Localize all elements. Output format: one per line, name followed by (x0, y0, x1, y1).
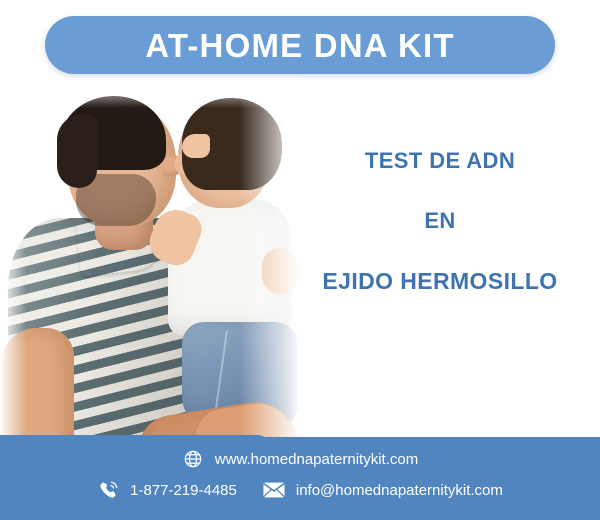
photo-canvas (0, 78, 300, 453)
phone-icon (97, 479, 119, 501)
hero-photo (0, 78, 300, 453)
footer-website-item[interactable]: www.homednapaternitykit.com (182, 448, 418, 470)
footer-row-phone-email: 1-877-219-4485 info@homednapaternitykit.… (0, 479, 600, 501)
header-banner: AT-HOME DNA KIT (0, 16, 600, 74)
globe-icon (182, 448, 204, 470)
envelope-icon (263, 479, 285, 501)
email-address: info@homednapaternitykit.com (296, 483, 503, 498)
headline-line-1: TEST DE ADN (290, 150, 590, 172)
child-cheek (182, 134, 210, 158)
footer-contact-bar: www.homednapaternitykit.com 1-877-219-44… (0, 437, 600, 520)
footer-phone-item[interactable]: 1-877-219-4485 (97, 479, 237, 501)
header-pill: AT-HOME DNA KIT (45, 16, 555, 74)
man-sideburn (57, 114, 97, 188)
headline-block: TEST DE ADN EN EJIDO HERMOSILLO (290, 150, 590, 293)
footer-row-website: www.homednapaternitykit.com (0, 448, 600, 470)
phone-number: 1-877-219-4485 (130, 483, 237, 498)
footer-email-item[interactable]: info@homednapaternitykit.com (263, 479, 503, 501)
photo-fade-top (0, 78, 300, 108)
website-url: www.homednapaternitykit.com (215, 452, 418, 467)
page-title: AT-HOME DNA KIT (145, 29, 454, 62)
poster-root: AT-HOME DNA KIT (0, 0, 600, 520)
headline-line-3: EJIDO HERMOSILLO (290, 270, 590, 293)
photo-fade-left (0, 78, 26, 453)
headline-line-2: EN (290, 210, 590, 232)
